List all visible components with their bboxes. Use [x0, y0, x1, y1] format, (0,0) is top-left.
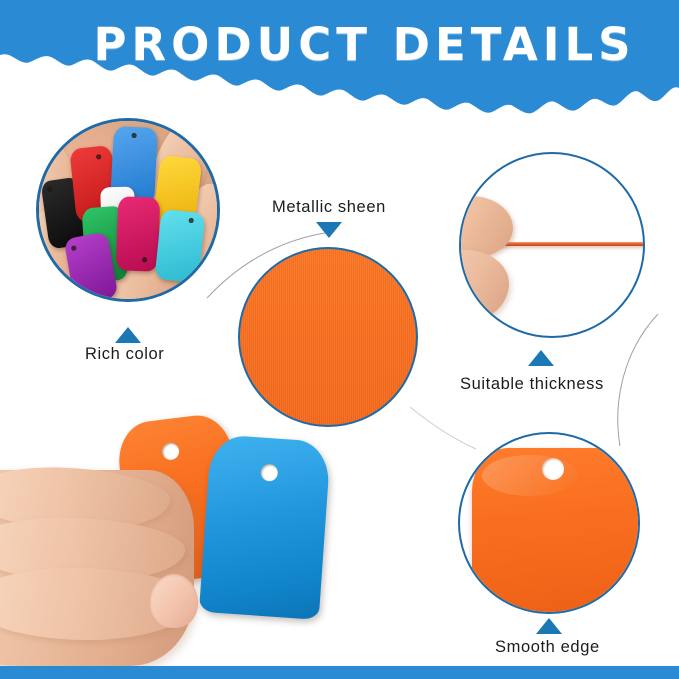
arrow-up-icon-rich-color	[115, 327, 141, 343]
thumb-shape	[459, 196, 513, 258]
caption-smooth-edge: Smooth edge	[495, 638, 600, 657]
product-details-infographic: PRODUCT DETAILS Ric	[0, 0, 679, 679]
caption-suitable-thickness: Suitable thickness	[460, 375, 604, 394]
arrow-up-icon-suitable-thickness	[528, 350, 554, 366]
page-title: PRODUCT DETAILS	[0, 18, 679, 71]
header-banner: PRODUCT DETAILS	[0, 0, 679, 130]
feature-image-suitable-thickness	[459, 152, 645, 338]
photo-hand-holding-two-tags	[0, 410, 345, 666]
connector-line-left	[205, 228, 335, 300]
feature-image-rich-color	[36, 118, 220, 302]
tag-hole	[542, 458, 564, 480]
arrow-down-icon-metallic-sheen	[316, 222, 342, 238]
caption-rich-color: Rich color	[85, 345, 164, 364]
connector-line-center	[408, 405, 478, 455]
thumbnail-shape	[150, 574, 198, 628]
footer-bar	[0, 666, 679, 679]
tag-hole	[161, 442, 180, 461]
arrow-up-icon-smooth-edge	[536, 618, 562, 634]
tag-cyan	[154, 209, 205, 283]
tag-blue-held	[199, 434, 331, 620]
tag-hole	[260, 464, 278, 482]
finger-shape	[459, 250, 509, 322]
caption-metallic-sheen: Metallic sheen	[272, 198, 386, 217]
tag-pink	[116, 196, 161, 271]
feature-image-smooth-edge	[458, 432, 640, 614]
connector-line-right	[600, 312, 660, 448]
